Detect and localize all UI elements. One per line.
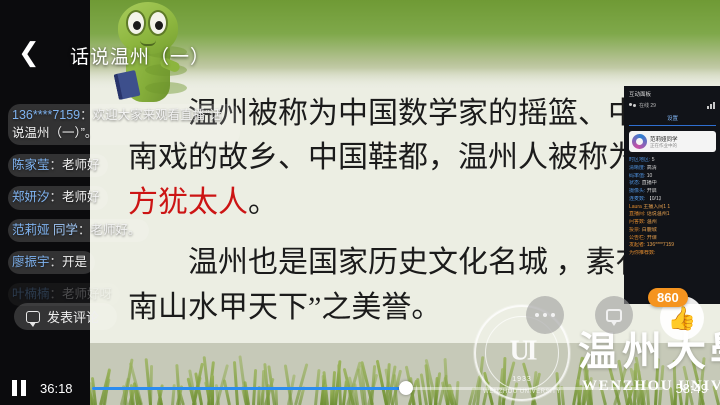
chat-message: 廖振宇：开是 bbox=[8, 251, 95, 274]
more-options-button[interactable] bbox=[526, 296, 564, 334]
side-panel-row-value: 白鹿城 bbox=[642, 227, 657, 233]
side-panel-row: 直播间: 话说温州1 bbox=[629, 211, 716, 219]
side-panel-row-key: 摄像头: bbox=[629, 188, 647, 194]
progress-handle[interactable] bbox=[399, 381, 413, 395]
post-comment-label: 发表评论 bbox=[47, 307, 99, 326]
side-panel-row: 状态: 直播中 bbox=[629, 180, 716, 188]
chat-username: 叶楠楠 bbox=[12, 287, 50, 301]
side-panel-row-value: 5 bbox=[652, 157, 655, 163]
post-comment-button[interactable]: 发表评论 bbox=[14, 303, 117, 330]
like-count-badge: 860 bbox=[648, 288, 688, 307]
side-panel-row-key: 连麦数: bbox=[629, 196, 647, 202]
back-button[interactable]: ❮ bbox=[18, 40, 46, 68]
side-panel-row: 为你推荐数: bbox=[629, 250, 716, 258]
side-panel-row-key: 公告栏: bbox=[629, 235, 647, 241]
pause-button[interactable] bbox=[12, 380, 28, 396]
chat-text: 老师好 bbox=[62, 190, 100, 204]
side-panel-row-key: 时区地区: bbox=[629, 157, 652, 163]
side-panel-row-value: 136****7159 bbox=[647, 242, 674, 248]
side-panel-row-key: 清晰度: bbox=[629, 165, 647, 171]
side-panel-row: Laura 主播入间1 1 bbox=[629, 204, 716, 212]
side-panel-title: 互动面板 bbox=[629, 90, 716, 98]
chat-message-list[interactable]: 136****7159：欢迎大家来观看直播“话说温州（一）”。陈家莹：老师好郑妍… bbox=[8, 104, 248, 315]
side-panel-row-value: 10 bbox=[647, 173, 653, 179]
chat-separator: ： bbox=[50, 158, 63, 172]
viewer-count: 在线 29 bbox=[639, 102, 656, 109]
chat-text: 开是 bbox=[62, 255, 87, 269]
chat-message: 136****7159：欢迎大家来观看直播“话说温州（一）”。 bbox=[8, 104, 240, 145]
side-panel-row-key: 问答数: bbox=[629, 219, 647, 225]
side-panel-row-key: 直播间: bbox=[629, 211, 647, 217]
people-icon bbox=[629, 103, 636, 109]
side-panel-row-key: 投票: bbox=[629, 227, 642, 233]
live-stream-player-screen: 温州被称为中国数学家的摇篮、中国南戏的故乡、中国鞋都，温州人被称为东方犹太人。 … bbox=[0, 0, 720, 405]
chat-text: 老师好呀 bbox=[62, 287, 112, 301]
chat-text: 老师好 bbox=[62, 158, 100, 172]
current-time-label: 36:18 bbox=[40, 381, 80, 396]
side-panel-row-key: 发起者: bbox=[629, 242, 647, 248]
side-panel-row-key: Laura bbox=[629, 204, 643, 210]
side-panel-row-value: 开课 bbox=[647, 235, 657, 241]
progress-bar[interactable] bbox=[92, 381, 663, 395]
chat-separator: ： bbox=[50, 190, 63, 204]
ellipsis-icon bbox=[535, 313, 556, 318]
chat-user-tag: 同学 bbox=[50, 223, 78, 237]
side-panel-row-key: 状态: bbox=[629, 180, 642, 186]
duration-label: 58:49 bbox=[675, 381, 708, 396]
chat-separator: ： bbox=[50, 287, 63, 301]
chat-username: 郑妍汐 bbox=[12, 190, 50, 204]
thumbs-up-icon: 👍 bbox=[668, 307, 697, 330]
chat-username: 陈家莹 bbox=[12, 158, 50, 172]
progress-fill bbox=[92, 387, 406, 390]
side-panel-row-value: 话说温州1 bbox=[647, 211, 670, 217]
chat-username: 范莉娅 bbox=[12, 223, 50, 237]
side-panel-detail-rows: 时区地区: 5清晰度: 高清码率值: 10状态: 直播中摄像头: 开启连麦数: … bbox=[629, 157, 716, 258]
chat-message: 郑妍汐：老师好 bbox=[8, 186, 108, 209]
side-panel-row-value: 开启 bbox=[647, 188, 657, 194]
signal-bars-icon bbox=[707, 102, 716, 109]
seal-monogram: UI bbox=[509, 336, 534, 368]
side-panel-row: 问答数: 温州 bbox=[629, 219, 716, 227]
side-panel-row-value: 温州 bbox=[647, 219, 657, 225]
side-panel-row-value: 高清 bbox=[647, 165, 657, 171]
side-panel-user-card[interactable]: 范莉娅同学 正在作业中的 bbox=[629, 131, 716, 152]
side-panel-row-key: 码率值: bbox=[629, 173, 647, 179]
chat-message: 陈家莹：老师好 bbox=[8, 154, 108, 177]
side-panel-user-subtitle: 正在作业中的 bbox=[650, 143, 677, 148]
side-panel-row: 时区地区: 5 bbox=[629, 157, 716, 165]
side-panel-row-value: 主播入间1 1 bbox=[643, 204, 670, 210]
chat-separator: ： bbox=[78, 223, 91, 237]
side-panel-row-value: 【0/1】 bbox=[647, 196, 664, 202]
side-panel-row: 发起者: 136****7159 bbox=[629, 242, 716, 250]
chat-username: 廖振宇 bbox=[12, 255, 50, 269]
side-panel-status-row: 在线 29 bbox=[629, 102, 716, 109]
chat-text: 老师好。 bbox=[91, 223, 141, 237]
avatar bbox=[632, 134, 647, 149]
side-panel-row: 公告栏: 开课 bbox=[629, 235, 716, 243]
side-panel-row: 清晰度: 高清 bbox=[629, 165, 716, 173]
chat-separator: ： bbox=[80, 108, 93, 122]
chat-toggle-button[interactable] bbox=[595, 296, 633, 334]
side-panel-row: 码率值: 10 bbox=[629, 173, 716, 181]
chat-bubble-icon bbox=[606, 309, 622, 322]
chat-separator: ： bbox=[50, 255, 63, 269]
player-control-bar: 36:18 58:49 bbox=[0, 371, 720, 405]
side-panel-row: 投票: 白鹿城 bbox=[629, 227, 716, 235]
chat-username: 136****7159 bbox=[12, 108, 80, 122]
comment-bubble-icon bbox=[26, 311, 40, 323]
side-panel-row: 连麦数: 【0/1】 bbox=[629, 196, 716, 204]
interaction-side-panel[interactable]: 互动面板 在线 29 设置 范莉娅同学 正在作业中的 时区地区: 5清晰度: 高… bbox=[624, 86, 720, 304]
side-panel-row-value: 直播中 bbox=[642, 180, 657, 186]
side-panel-row: 摄像头: 开启 bbox=[629, 188, 716, 196]
slide-text-plain-2: 。 bbox=[248, 186, 278, 219]
side-panel-tab[interactable]: 设置 bbox=[629, 114, 716, 126]
side-panel-row-key: 为你推荐数: bbox=[629, 250, 655, 256]
page-title: 话说温州（一） bbox=[70, 42, 210, 69]
chat-message: 范莉娅 同学：老师好。 bbox=[8, 219, 149, 242]
